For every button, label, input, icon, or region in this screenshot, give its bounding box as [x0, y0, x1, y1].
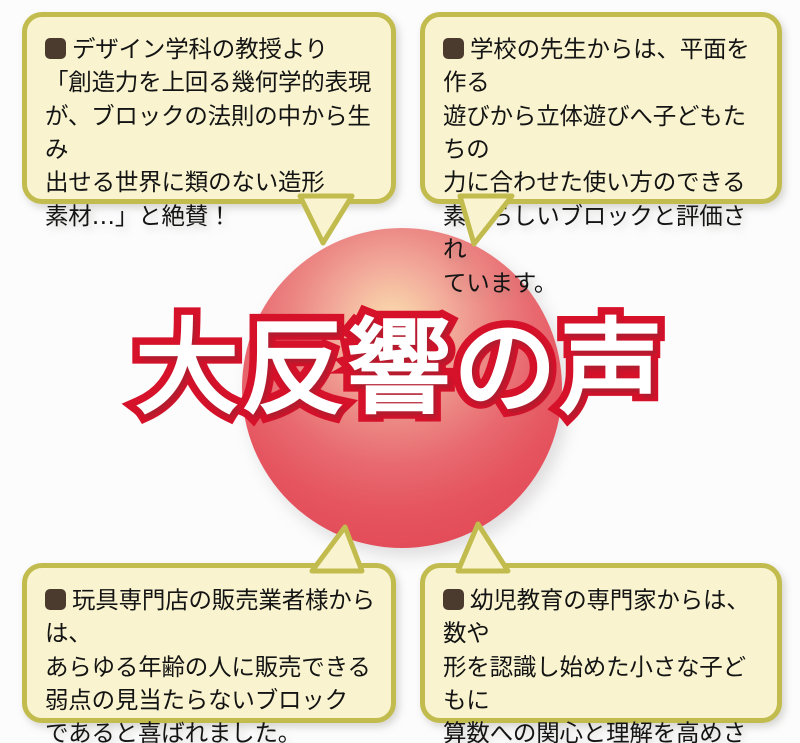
bubble-content: デザイン学科の教授より 「創造力を上回る幾何学的表現 が、ブロックの法則の中から…: [27, 17, 391, 245]
testimonial-bubble-bottom-left: 玩具専門店の販売業者様からは、 あらゆる年齢の人に販売できる 弱点の見当たらない…: [22, 563, 396, 723]
bubble-content: 幼児教育の専門家からは、数や 形を認識し始めた小さな子どもに 算数への関心と理解…: [425, 568, 777, 743]
testimonial-text: 幼児教育の専門家からは、数や 形を認識し始めた小さな子どもに 算数への関心と理解…: [443, 586, 750, 743]
testimonial-bubble-bottom-right: 幼児教育の専門家からは、数や 形を認識し始めた小さな子どもに 算数への関心と理解…: [420, 563, 782, 723]
square-bullet-icon: [45, 38, 66, 59]
square-bullet-icon: [443, 589, 464, 610]
testimonial-text: 学校の先生からは、平面を作る 遊びから立体遊びへ子どもたちの 力に合わせた使い方…: [443, 35, 750, 297]
square-bullet-icon: [443, 38, 464, 59]
testimonial-bubble-top-right: 学校の先生からは、平面を作る 遊びから立体遊びへ子どもたちの 力に合わせた使い方…: [420, 12, 782, 204]
bubble-content: 学校の先生からは、平面を作る 遊びから立体遊びへ子どもたちの 力に合わせた使い方…: [425, 17, 777, 312]
promo-graphic-canvas: デザイン学科の教授より 「創造力を上回る幾何学的表現 が、ブロックの法則の中から…: [0, 0, 800, 743]
testimonial-bubble-top-left: デザイン学科の教授より 「創造力を上回る幾何学的表現 が、ブロックの法則の中から…: [22, 12, 396, 204]
bubble-content: 玩具専門店の販売業者様からは、 あらゆる年齢の人に販売できる 弱点の見当たらない…: [27, 568, 391, 743]
testimonial-text: デザイン学科の教授より 「創造力を上回る幾何学的表現 が、ブロックの法則の中から…: [45, 35, 371, 230]
testimonial-text: 玩具専門店の販売業者様からは、 あらゆる年齢の人に販売できる 弱点の見当たらない…: [45, 586, 375, 743]
square-bullet-icon: [45, 589, 66, 610]
